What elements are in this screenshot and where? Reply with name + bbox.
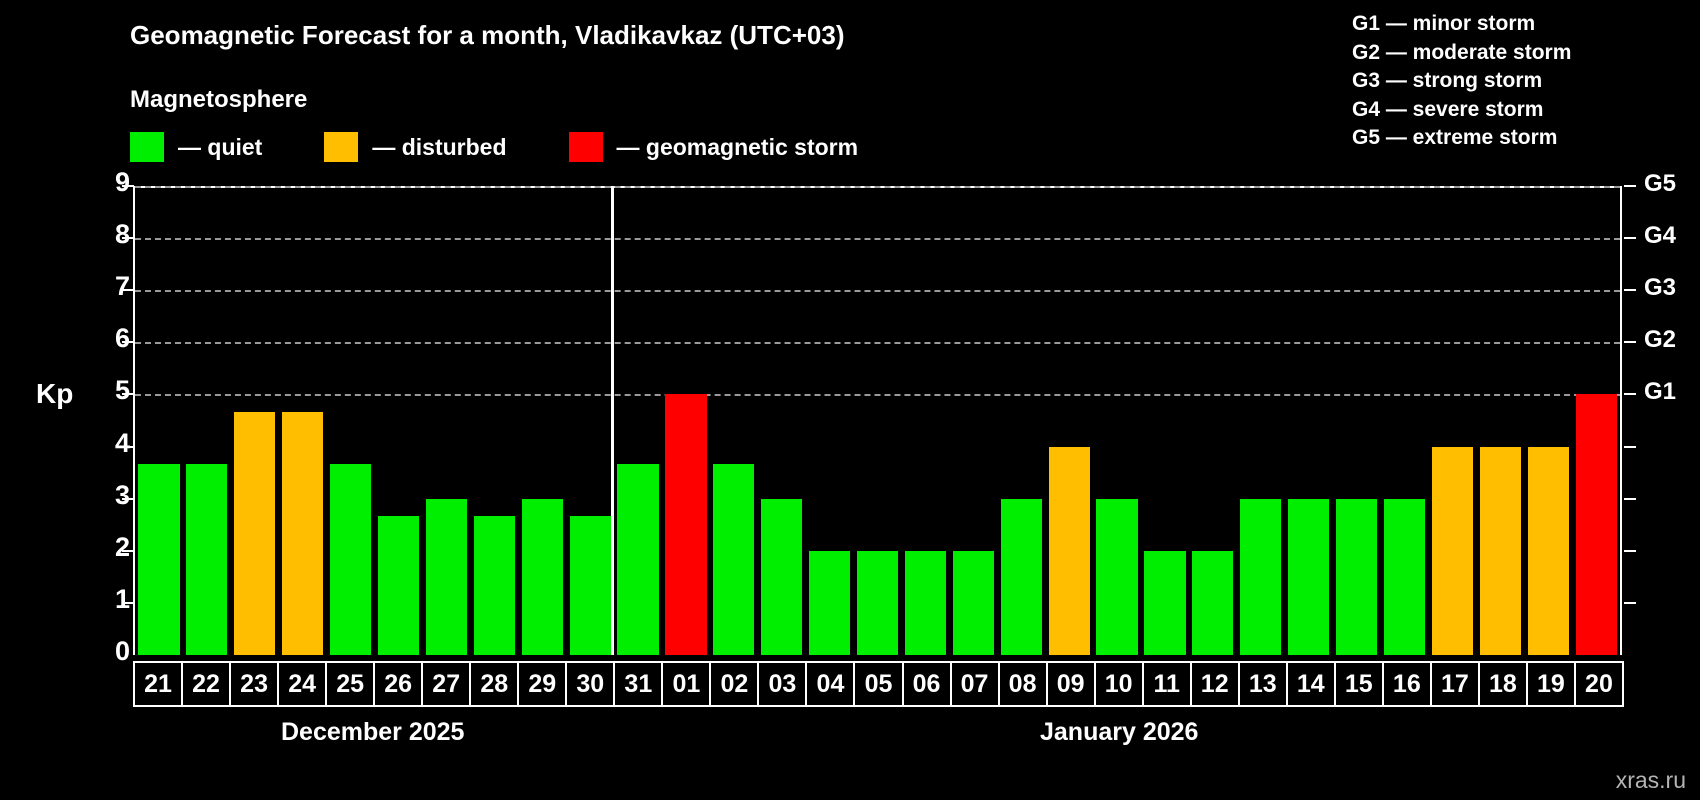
y-tick-label-7: 7 (90, 271, 130, 302)
bar-cell-03[interactable] (758, 188, 806, 655)
day-label-25: 25 (325, 661, 375, 707)
day-label-12: 12 (1190, 661, 1240, 707)
y-tick-5 (122, 393, 134, 395)
day-label-10: 10 (1094, 661, 1144, 707)
legend: — quiet— disturbed— geomagnetic storm (130, 132, 858, 162)
day-label-05: 05 (853, 661, 903, 707)
plot-area (133, 186, 1622, 655)
bar-cell-22[interactable] (183, 188, 231, 655)
page-title: Geomagnetic Forecast for a month, Vladik… (130, 20, 844, 51)
bar-day-16[interactable] (1384, 499, 1425, 655)
bar-cell-01[interactable] (662, 188, 710, 655)
bar-day-10[interactable] (1096, 499, 1137, 655)
y-tick-9 (122, 185, 134, 187)
bar-cell-12[interactable] (1189, 188, 1237, 655)
legend-swatch-quiet (130, 132, 164, 162)
bar-cell-10[interactable] (1093, 188, 1141, 655)
day-label-22: 22 (181, 661, 231, 707)
day-axis: 2122232425262728293031010203040506070809… (133, 661, 1622, 707)
g-tick-kp-2 (1624, 550, 1636, 552)
legend-label-quiet: — quiet (178, 134, 262, 161)
bar-cell-30[interactable] (566, 188, 614, 655)
bar-day-22[interactable] (186, 464, 227, 655)
y-tick-label-6: 6 (90, 323, 130, 354)
g-axis-label-g3: G3 (1644, 274, 1676, 302)
y-tick-label-8: 8 (90, 219, 130, 250)
month-labels: December 2025 January 2026 (0, 718, 1700, 758)
month-label-january: January 2026 (1040, 718, 1198, 747)
y-tick-label-1: 1 (90, 584, 130, 615)
bar-cell-23[interactable] (231, 188, 279, 655)
bar-day-09[interactable] (1049, 447, 1090, 655)
bar-day-31[interactable] (617, 464, 658, 655)
bar-cell-21[interactable] (135, 188, 183, 655)
g-tick-kp-5 (1624, 393, 1636, 395)
bar-day-18[interactable] (1480, 447, 1521, 655)
bar-day-03[interactable] (761, 499, 802, 655)
bar-cell-25[interactable] (327, 188, 375, 655)
y-tick-8 (122, 237, 134, 239)
day-label-23: 23 (229, 661, 279, 707)
legend-item-quiet: — quiet (130, 132, 262, 162)
day-label-21: 21 (133, 661, 183, 707)
bar-day-15[interactable] (1336, 499, 1377, 655)
bar-day-12[interactable] (1192, 551, 1233, 655)
day-label-27: 27 (421, 661, 471, 707)
g-tick-kp-8 (1624, 237, 1636, 239)
day-label-03: 03 (757, 661, 807, 707)
y-tick-label-9: 9 (90, 167, 130, 198)
bar-cell-29[interactable] (518, 188, 566, 655)
bar-day-23[interactable] (234, 412, 275, 655)
day-label-01: 01 (661, 661, 711, 707)
y-tick-label-0: 0 (90, 636, 130, 667)
bar-day-20[interactable] (1576, 394, 1617, 655)
day-label-02: 02 (709, 661, 759, 707)
watermark: xras.ru (1616, 767, 1686, 794)
bar-day-28[interactable] (474, 516, 515, 655)
day-label-18: 18 (1478, 661, 1528, 707)
y-axis-title: Kp (36, 378, 73, 410)
day-label-31: 31 (613, 661, 663, 707)
bar-day-19[interactable] (1528, 447, 1569, 655)
y-tick-6 (122, 341, 134, 343)
bar-day-06[interactable] (905, 551, 946, 655)
legend-label-storm: — geomagnetic storm (617, 134, 859, 161)
geomagnetic-forecast-chart: Geomagnetic Forecast for a month, Vladik… (0, 0, 1700, 800)
legend-swatch-disturbed (324, 132, 358, 162)
day-label-20: 20 (1574, 661, 1624, 707)
month-separator (611, 186, 614, 655)
bar-cell-26[interactable] (375, 188, 423, 655)
bar-cell-17[interactable] (1428, 188, 1476, 655)
day-label-08: 08 (998, 661, 1048, 707)
y-tick-label-3: 3 (90, 480, 130, 511)
bar-cell-20[interactable] (1572, 188, 1620, 655)
g-tick-kp-3 (1624, 498, 1636, 500)
bar-day-07[interactable] (953, 551, 994, 655)
legend-label-disturbed: — disturbed (372, 134, 506, 161)
bar-day-27[interactable] (426, 499, 467, 655)
y-tick-label-4: 4 (90, 428, 130, 459)
bar-day-05[interactable] (857, 551, 898, 655)
bar-cell-16[interactable] (1381, 188, 1429, 655)
bar-day-01[interactable] (665, 394, 706, 655)
legend-item-disturbed: — disturbed (324, 132, 506, 162)
bar-day-25[interactable] (330, 464, 371, 655)
bar-cell-27[interactable] (422, 188, 470, 655)
day-label-11: 11 (1142, 661, 1192, 707)
day-label-29: 29 (517, 661, 567, 707)
month-label-december: December 2025 (281, 718, 464, 747)
g-axis-label-g5: G5 (1644, 170, 1676, 198)
g-tick-kp-1 (1624, 602, 1636, 604)
bar-cell-04[interactable] (806, 188, 854, 655)
day-label-17: 17 (1430, 661, 1480, 707)
bar-cell-28[interactable] (470, 188, 518, 655)
bar-day-24[interactable] (282, 412, 323, 655)
g-axis-label-g1: G1 (1644, 378, 1676, 406)
y-tick-label-5: 5 (90, 375, 130, 406)
bar-day-17[interactable] (1432, 447, 1473, 655)
bar-day-21[interactable] (138, 464, 179, 655)
bar-cell-09[interactable] (1045, 188, 1093, 655)
y-tick-label-2: 2 (90, 532, 130, 563)
bar-day-02[interactable] (713, 464, 754, 655)
bar-cell-19[interactable] (1524, 188, 1572, 655)
bar-cell-15[interactable] (1333, 188, 1381, 655)
day-label-15: 15 (1334, 661, 1384, 707)
day-label-04: 04 (805, 661, 855, 707)
day-label-28: 28 (469, 661, 519, 707)
day-label-26: 26 (373, 661, 423, 707)
y-tick-1 (122, 602, 134, 604)
bar-day-08[interactable] (1001, 499, 1042, 655)
y-tick-7 (122, 289, 134, 291)
chart-subtitle: Magnetosphere (130, 86, 307, 114)
day-label-19: 19 (1526, 661, 1576, 707)
bar-cell-06[interactable] (902, 188, 950, 655)
bar-cell-18[interactable] (1476, 188, 1524, 655)
bar-day-26[interactable] (378, 516, 419, 655)
bar-cell-11[interactable] (1141, 188, 1189, 655)
y-tick-4 (122, 446, 134, 448)
g-axis-label-g4: G4 (1644, 222, 1676, 250)
bar-cell-02[interactable] (710, 188, 758, 655)
day-label-24: 24 (277, 661, 327, 707)
g-tick-kp-6 (1624, 341, 1636, 343)
day-label-30: 30 (565, 661, 615, 707)
y-tick-3 (122, 498, 134, 500)
y-tick-2 (122, 550, 134, 552)
legend-swatch-storm (569, 132, 603, 162)
g-tick-kp-9 (1624, 185, 1636, 187)
day-label-16: 16 (1382, 661, 1432, 707)
g-tick-kp-7 (1624, 289, 1636, 291)
day-label-14: 14 (1286, 661, 1336, 707)
day-label-06: 06 (902, 661, 952, 707)
bar-cell-14[interactable] (1285, 188, 1333, 655)
bar-cell-08[interactable] (997, 188, 1045, 655)
bar-cell-05[interactable] (854, 188, 902, 655)
bar-day-04[interactable] (809, 551, 850, 655)
bar-series (135, 188, 1620, 655)
bar-cell-13[interactable] (1237, 188, 1285, 655)
bar-cell-31[interactable] (614, 188, 662, 655)
bar-day-13[interactable] (1240, 499, 1281, 655)
bar-cell-07[interactable] (949, 188, 997, 655)
bar-day-11[interactable] (1144, 551, 1185, 655)
day-label-09: 09 (1046, 661, 1096, 707)
bar-day-30[interactable] (570, 516, 611, 655)
bar-cell-24[interactable] (279, 188, 327, 655)
day-label-07: 07 (950, 661, 1000, 707)
g-axis-label-g2: G2 (1644, 326, 1676, 354)
day-label-13: 13 (1238, 661, 1288, 707)
legend-item-storm: — geomagnetic storm (569, 132, 859, 162)
bar-day-29[interactable] (522, 499, 563, 655)
g-tick-kp-4 (1624, 446, 1636, 448)
bar-day-14[interactable] (1288, 499, 1329, 655)
